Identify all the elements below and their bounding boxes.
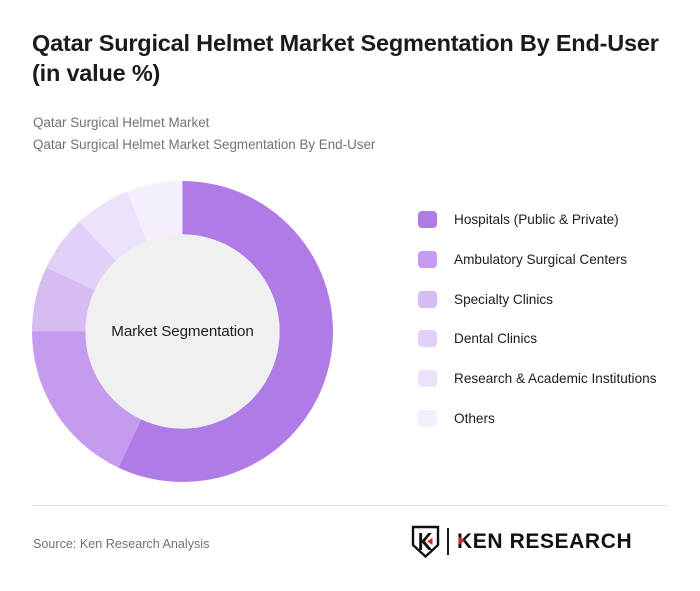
legend-item[interactable]: Ambulatory Surgical Centers [418,250,680,269]
legend-item-label: Others [454,409,495,428]
legend-item[interactable]: Research & Academic Institutions [418,369,680,388]
brand-wordmark-text: KEN RESEARCH [457,530,632,553]
legend-item-label: Hospitals (Public & Private) [454,210,619,229]
legend-swatch-icon [418,330,437,347]
legend-item-label: Ambulatory Surgical Centers [454,250,627,269]
legend-item-label: Dental Clinics [454,329,537,348]
donut-hole [85,234,279,428]
subtitle-segmentation: Qatar Surgical Helmet Market Segmentatio… [33,134,653,156]
chart-card: Qatar Surgical Helmet Market Segmentatio… [0,0,700,591]
brand-wordmark: KEN RESEARCH [457,528,669,554]
brand-divider [447,528,449,555]
footer-divider [32,505,668,506]
legend-item[interactable]: Hospitals (Public & Private) [418,210,680,229]
legend-item[interactable]: Others [418,409,680,428]
legend-swatch-icon [418,291,437,308]
plot-area: Market Segmentation Hospitals (Public & … [0,160,700,490]
legend-swatch-icon [418,251,437,268]
donut-svg [32,181,333,482]
legend-item-label: Specialty Clinics [454,290,553,309]
subtitle-block: Qatar Surgical Helmet Market Qatar Surgi… [33,112,653,155]
ken-research-shield-icon [411,525,440,558]
legend-swatch-icon [418,211,437,228]
donut-slice-group [32,181,333,482]
legend-item-label: Research & Academic Institutions [454,369,657,388]
page-title: Qatar Surgical Helmet Market Segmentatio… [32,28,662,88]
legend-swatch-icon [418,370,437,387]
subtitle-market-name: Qatar Surgical Helmet Market [33,112,653,134]
chart-legend: Hospitals (Public & Private)Ambulatory S… [418,210,680,449]
donut-chart: Market Segmentation [32,181,333,482]
brand-logo: KEN RESEARCH [411,524,669,558]
legend-swatch-icon [418,410,437,427]
source-note: Source: Ken Research Analysis [33,537,209,551]
legend-item[interactable]: Dental Clinics [418,329,680,348]
legend-item[interactable]: Specialty Clinics [418,290,680,309]
